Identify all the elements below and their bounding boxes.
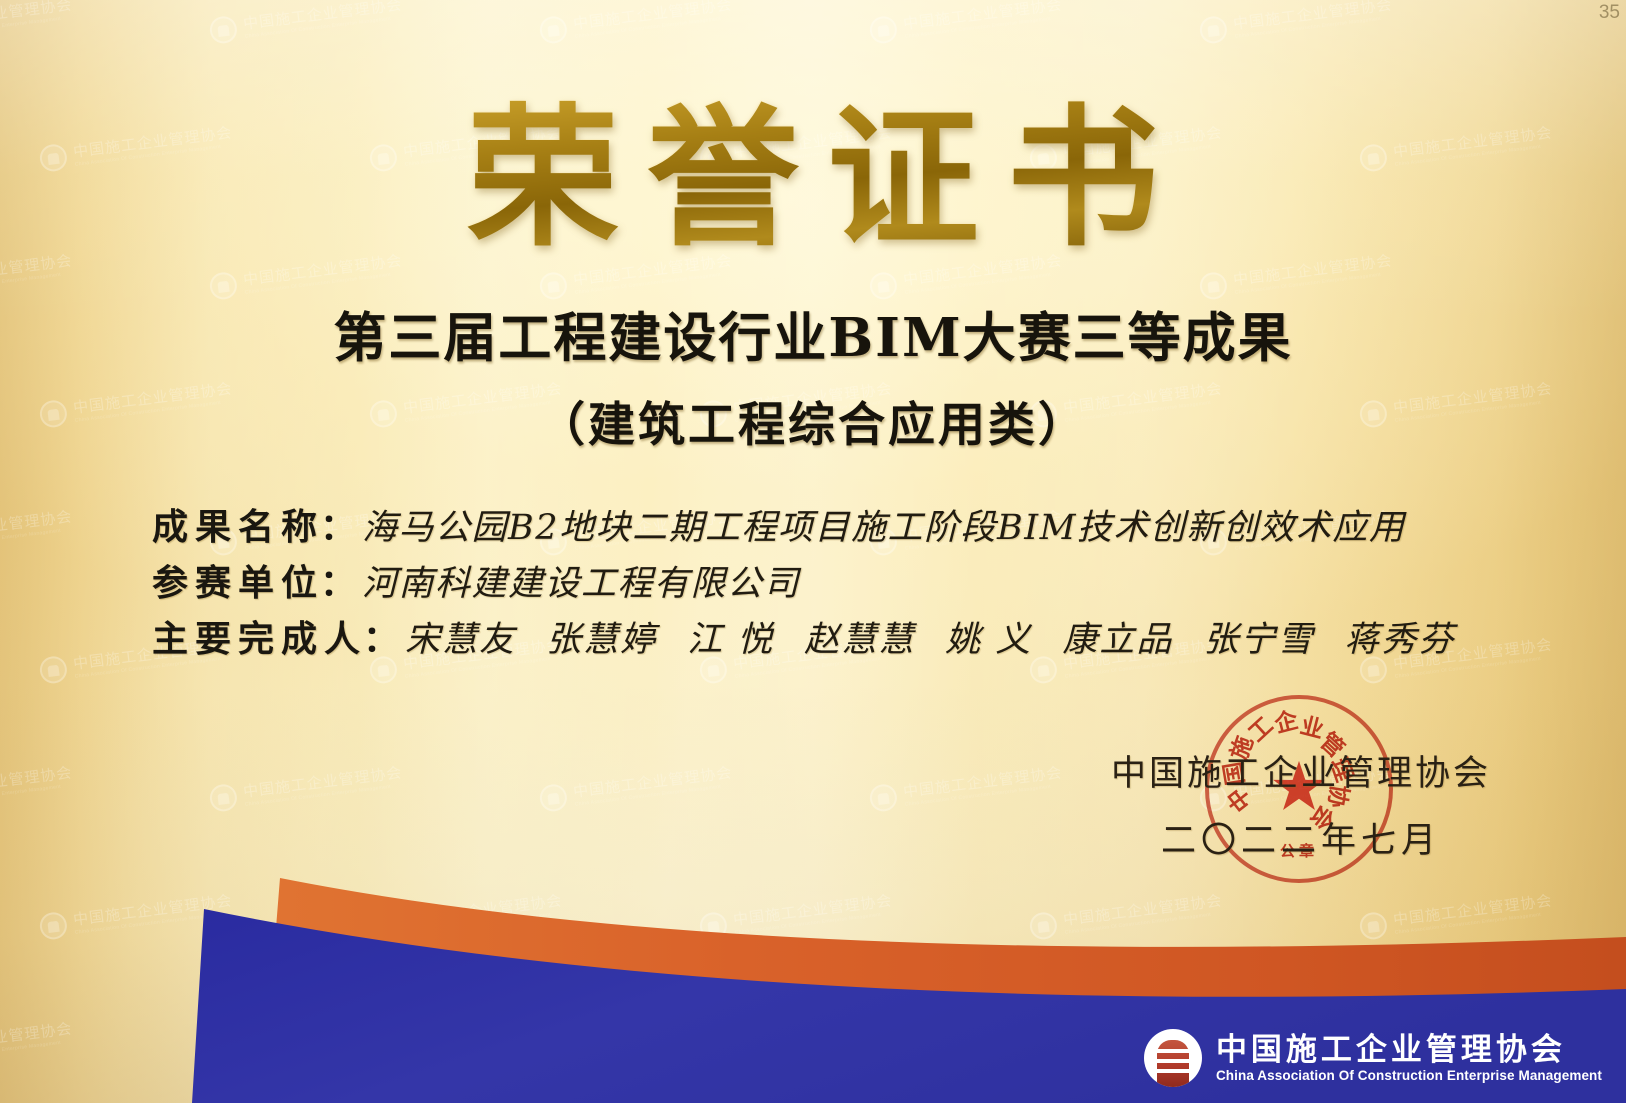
contributor-name-list: 宋慧友张慧婷江 悦赵慧慧姚 义康立品张宁雪蒋秀芬 [405, 611, 1455, 662]
association-emblem-icon [1144, 1029, 1202, 1087]
footer-logo-text: 中国施工企业管理协会 China Association Of Construc… [1216, 1033, 1602, 1083]
contributor-name: 赵慧慧 [804, 611, 915, 662]
watermark-stamp: 中国施工企业管理协会China Association Of Construct… [868, 0, 1064, 45]
field-value-participating-unit: 河南科建建设工程有限公司 [362, 555, 800, 606]
watermark-stamp: 中国施工企业管理协会China Association Of Construct… [0, 0, 74, 45]
signature-block: 中国施工企业管理协会 二〇二二年七月 [1111, 745, 1491, 863]
watermark-stamp: 中国施工企业管理协会China Association Of Construct… [0, 506, 74, 556]
certificate-fields: 成果名称 ： 海马公园B2地块二期工程项目施工阶段BIM技术创新创效术应用 参赛… [152, 498, 1506, 666]
honor-certificate: 中国施工企业管理协会China Association Of Construct… [0, 0, 1626, 1103]
watermark-emblem-icon [868, 15, 898, 45]
field-label-main-contributors: 主要完成人 [152, 610, 367, 662]
issuing-organization: 中国施工企业管理协会 [1111, 745, 1491, 796]
field-row-achievement-name: 成果名称 ： 海马公园B2地块二期工程项目施工阶段BIM技术创新创效术应用 [152, 498, 1506, 554]
field-label-participating-unit: 参赛单位 [152, 554, 324, 606]
contributor-name: 宋慧友 [405, 611, 516, 662]
watermark-text: 中国施工企业管理协会China Association Of Construct… [902, 0, 1064, 39]
contributor-name: 康立品 [1062, 611, 1173, 662]
certificate-main-title: 荣誉证书 [439, 96, 1187, 260]
watermark-text: 中国施工企业管理协会China Association Of Construct… [902, 764, 1064, 807]
watermark-stamp: 中国施工企业管理协会China Association Of Construct… [538, 0, 734, 45]
watermark-text: 中国施工企业管理协会China Association Of Construct… [1232, 0, 1394, 39]
watermark-emblem-icon [38, 655, 68, 685]
watermark-stamp: 中国施工企业管理协会China Association Of Construct… [1198, 0, 1394, 45]
watermark-text: 中国施工企业管理协会China Association Of Construct… [242, 764, 404, 807]
issue-date: 二〇二二年七月 [1111, 812, 1491, 863]
watermark-emblem-icon [208, 15, 238, 45]
watermark-emblem-icon [1198, 15, 1228, 45]
contributor-name: 姚 义 [945, 611, 1032, 662]
watermark-text: 中国施工企业管理协会China Association Of Construct… [572, 764, 734, 807]
watermark-text: 中国施工企业管理协会China Association Of Construct… [572, 0, 734, 39]
field-row-participating-unit: 参赛单位 ： 河南科建建设工程有限公司 [152, 554, 1506, 610]
footer-logo-name-cn: 中国施工企业管理协会 [1216, 1033, 1602, 1067]
watermark-text: 中国施工企业管理协会China Association Of Construct… [0, 0, 74, 39]
field-colon-participating-unit: ： [320, 554, 356, 606]
award-category-line: （建筑工程综合应用类） [0, 386, 1626, 455]
field-colon-main-contributors: ： [363, 610, 399, 662]
field-value-achievement-name: 海马公园B2地块二期工程项目施工阶段BIM技术创新创效术应用 [362, 499, 1405, 550]
watermark-text: 中国施工企业管理协会China Association Of Construct… [242, 0, 404, 39]
watermark-emblem-icon [538, 15, 568, 45]
contributor-name: 张慧婷 [546, 611, 657, 662]
watermark-stamp: 中国施工企业管理协会China Association Of Construct… [208, 0, 404, 45]
watermark-text: 中国施工企业管理协会China Association Of Construct… [0, 508, 74, 551]
field-colon-achievement-name: ： [320, 498, 356, 550]
watermark-text: 中国施工企业管理协会China Association Of Construct… [0, 764, 74, 807]
corner-page-mark: 35 [1599, 2, 1620, 24]
contributor-name: 江 悦 [687, 611, 774, 662]
contributor-name: 张宁雪 [1203, 611, 1314, 662]
certificate-title-wrap: 荣誉证书 [0, 96, 1626, 260]
award-name-line: 第三届工程建设行业BIM大赛三等成果 [0, 296, 1626, 372]
footer-association-logo: 中国施工企业管理协会 China Association Of Construc… [1144, 1029, 1602, 1087]
field-label-achievement-name: 成果名称 [152, 498, 324, 550]
footer-logo-name-en: China Association Of Construction Enterp… [1216, 1068, 1602, 1083]
field-row-main-contributors: 主要完成人 ： 宋慧友张慧婷江 悦赵慧慧姚 义康立品张宁雪蒋秀芬 [152, 610, 1506, 666]
contributor-name: 蒋秀芬 [1344, 611, 1455, 662]
